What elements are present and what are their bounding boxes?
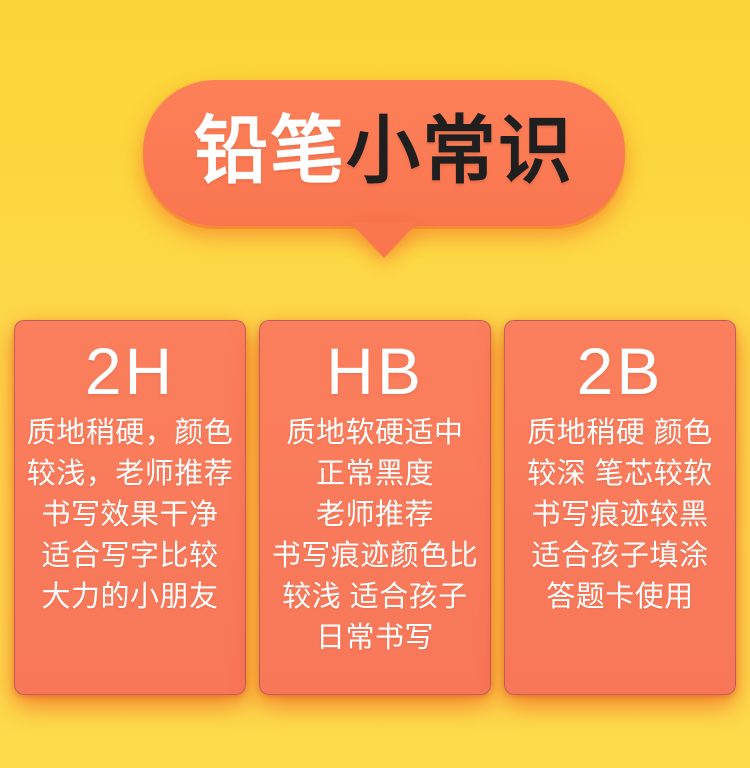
page-title-dark-part: 小常识 xyxy=(346,114,574,188)
pencil-grade-card-list: 2H 质地稍硬，颜色 较浅，老师推荐 书写效果干净 适合写字比较 大力的小朋友 … xyxy=(0,320,750,695)
card-line: 适合写字比较 xyxy=(21,536,239,577)
card-heading: HB xyxy=(264,335,486,409)
pencil-grade-card-2h: 2H 质地稍硬，颜色 较浅，老师推荐 书写效果干净 适合写字比较 大力的小朋友 xyxy=(14,320,246,695)
card-line: 较浅，老师推荐 xyxy=(21,454,239,495)
title-banner: 铅笔小常识 xyxy=(143,80,625,226)
card-heading: 2B xyxy=(509,335,731,409)
title-banner-tail-icon xyxy=(350,222,418,258)
card-body: 质地稍硬 颜色 较深 笔芯较软 书写痕迹较黑 适合孩子填涂 答题卡使用 xyxy=(509,413,731,618)
pencil-grade-card-hb: HB 质地软硬适中 正常黑度 老师推荐 书写痕迹颜色比 较浅 适合孩子 日常书写 xyxy=(259,320,491,695)
card-line: 适合孩子填涂 xyxy=(511,536,729,577)
page-title-light-part: 铅笔 xyxy=(194,114,346,188)
card-line: 书写痕迹较黑 xyxy=(511,495,729,536)
card-line: 正常黑度 xyxy=(266,454,484,495)
card-line: 质地软硬适中 xyxy=(266,413,484,454)
card-line: 较浅 适合孩子 xyxy=(266,577,484,618)
card-line: 老师推荐 xyxy=(266,495,484,536)
card-line: 较深 笔芯较软 xyxy=(511,454,729,495)
card-heading: 2H xyxy=(19,335,241,409)
card-body: 质地稍硬，颜色 较浅，老师推荐 书写效果干净 适合写字比较 大力的小朋友 xyxy=(19,413,241,618)
page-title: 铅笔小常识 xyxy=(143,80,625,226)
pencil-grade-card-2b: 2B 质地稍硬 颜色 较深 笔芯较软 书写痕迹较黑 适合孩子填涂 答题卡使用 xyxy=(504,320,736,695)
card-line: 书写效果干净 xyxy=(21,495,239,536)
card-line: 大力的小朋友 xyxy=(21,577,239,618)
card-line: 书写痕迹颜色比 xyxy=(266,536,484,577)
card-line: 答题卡使用 xyxy=(511,577,729,618)
card-line: 日常书写 xyxy=(266,618,484,659)
pencil-knowledge-poster: 铅笔小常识 2H 质地稍硬，颜色 较浅，老师推荐 书写效果干净 适合写字比较 大… xyxy=(0,0,750,768)
card-line: 质地稍硬，颜色 xyxy=(21,413,239,454)
card-line: 质地稍硬 颜色 xyxy=(511,413,729,454)
card-body: 质地软硬适中 正常黑度 老师推荐 书写痕迹颜色比 较浅 适合孩子 日常书写 xyxy=(264,413,486,659)
